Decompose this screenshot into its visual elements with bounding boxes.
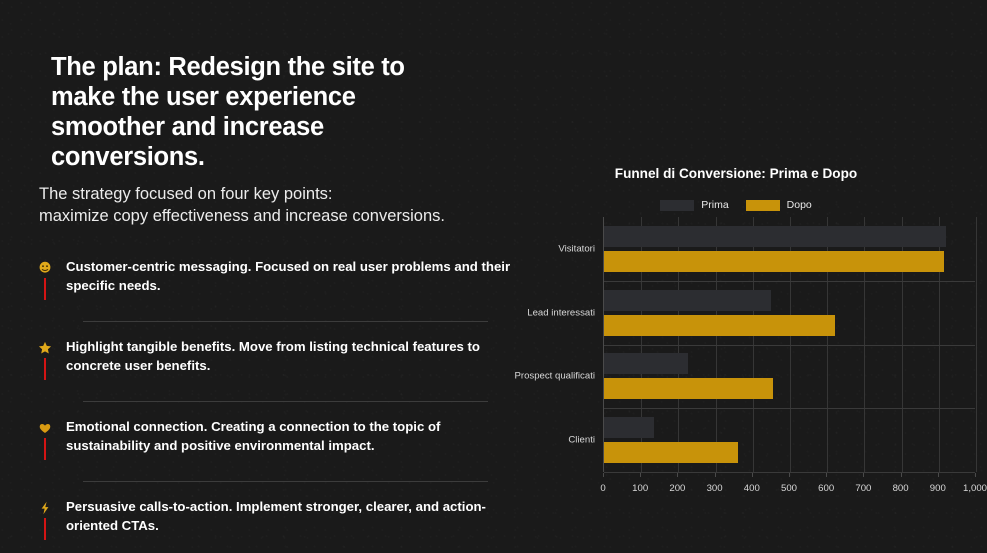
legend-label-prima: Prima bbox=[701, 199, 728, 211]
divider bbox=[83, 321, 488, 322]
y-axis-tick-label: Prospect qualificati bbox=[497, 371, 595, 382]
list-item-label: Emotional connection. Creating a connect… bbox=[66, 415, 518, 455]
accent-bar bbox=[44, 358, 46, 380]
y-axis-tick-label: Visitatori bbox=[497, 243, 595, 254]
star-icon bbox=[38, 341, 52, 355]
x-axis-tick-mark bbox=[975, 473, 976, 477]
thinking-face-icon bbox=[38, 261, 52, 275]
key-points-list: Customer-centric messaging. Focused on r… bbox=[18, 255, 518, 547]
x-axis-tick-mark bbox=[863, 473, 864, 477]
legend-item-dopo: Dopo bbox=[746, 199, 812, 211]
accent-bar bbox=[44, 278, 46, 300]
x-axis-tick-mark bbox=[938, 473, 939, 477]
chart-bar bbox=[604, 251, 944, 272]
chart-bars-region bbox=[603, 217, 975, 472]
x-axis-tick-mark bbox=[826, 473, 827, 477]
chart-bar bbox=[604, 353, 688, 374]
legend-swatch-dopo bbox=[746, 200, 780, 211]
conversion-funnel-chart: Funnel di Conversione: Prima e Dopo Prim… bbox=[497, 160, 975, 512]
lightning-bolt-icon bbox=[38, 501, 52, 515]
content-column: The plan: Redesign the site to make the … bbox=[18, 0, 518, 553]
x-axis-tick-mark bbox=[789, 473, 790, 477]
chart-legend: Prima Dopo bbox=[497, 199, 975, 211]
legend-label-dopo: Dopo bbox=[787, 199, 812, 211]
divider bbox=[83, 401, 488, 402]
chart-bar bbox=[604, 378, 773, 399]
heart-icon bbox=[38, 421, 52, 435]
x-axis: 01002003004005006007008009001,000 bbox=[603, 473, 975, 507]
x-axis-tick-mark bbox=[715, 473, 716, 477]
x-axis-tick-mark bbox=[640, 473, 641, 477]
slide-subtitle: The strategy focused on four key points:… bbox=[39, 183, 529, 228]
chart-bar bbox=[604, 417, 654, 438]
slide-canvas: The plan: Redesign the site to make the … bbox=[0, 0, 987, 553]
x-axis-tick-mark bbox=[677, 473, 678, 477]
list-item: Highlight tangible benefits. Move from l… bbox=[18, 335, 518, 387]
chart-plot-area: VisitatoriLead interessatiProspect quali… bbox=[497, 217, 975, 512]
chart-bar bbox=[604, 290, 771, 311]
x-axis-tick-mark bbox=[603, 473, 604, 477]
gridline-horizontal bbox=[604, 408, 975, 409]
y-axis-tick-label: Clienti bbox=[497, 435, 595, 446]
x-axis-tick-label: 900 bbox=[930, 483, 946, 494]
list-item-label: Customer-centric messaging. Focused on r… bbox=[66, 255, 518, 295]
gridline-horizontal bbox=[604, 345, 975, 346]
chart-bar bbox=[604, 315, 835, 336]
y-axis-tick-label: Lead interessati bbox=[497, 307, 595, 318]
page-title: The plan: Redesign the site to make the … bbox=[51, 52, 471, 172]
x-axis-tick-mark bbox=[901, 473, 902, 477]
x-axis-tick-label: 400 bbox=[744, 483, 760, 494]
chart-bar bbox=[604, 226, 946, 247]
legend-swatch-prima bbox=[660, 200, 694, 211]
accent-bar bbox=[44, 438, 46, 460]
chart-bar bbox=[604, 442, 738, 463]
x-axis-tick-label: 200 bbox=[669, 483, 685, 494]
x-axis-tick-label: 700 bbox=[855, 483, 871, 494]
x-axis-tick-label: 100 bbox=[632, 483, 648, 494]
chart-title: Funnel di Conversione: Prima e Dopo bbox=[497, 166, 975, 181]
gridline-vertical bbox=[976, 217, 977, 472]
list-item: Customer-centric messaging. Focused on r… bbox=[18, 255, 518, 307]
list-item-label: Highlight tangible benefits. Move from l… bbox=[66, 335, 518, 375]
gridline-horizontal bbox=[604, 281, 975, 282]
legend-item-prima: Prima bbox=[660, 199, 728, 211]
y-axis-labels: VisitatoriLead interessatiProspect quali… bbox=[497, 217, 602, 472]
subtitle-line-1: The strategy focused on four key points: bbox=[39, 183, 529, 205]
x-axis-tick-label: 600 bbox=[818, 483, 834, 494]
list-item-label: Persuasive calls-to-action. Implement st… bbox=[66, 495, 518, 535]
x-axis-tick-mark bbox=[752, 473, 753, 477]
x-axis-tick-label: 0 bbox=[600, 483, 605, 494]
divider bbox=[83, 481, 488, 482]
x-axis-tick-label: 800 bbox=[893, 483, 909, 494]
x-axis-tick-label: 1,000 bbox=[963, 483, 987, 494]
list-item: Emotional connection. Creating a connect… bbox=[18, 415, 518, 467]
subtitle-line-2: maximize copy effectiveness and increase… bbox=[39, 205, 529, 227]
x-axis-tick-label: 500 bbox=[781, 483, 797, 494]
x-axis-tick-label: 300 bbox=[707, 483, 723, 494]
accent-bar bbox=[44, 518, 46, 540]
list-item: Persuasive calls-to-action. Implement st… bbox=[18, 495, 518, 547]
